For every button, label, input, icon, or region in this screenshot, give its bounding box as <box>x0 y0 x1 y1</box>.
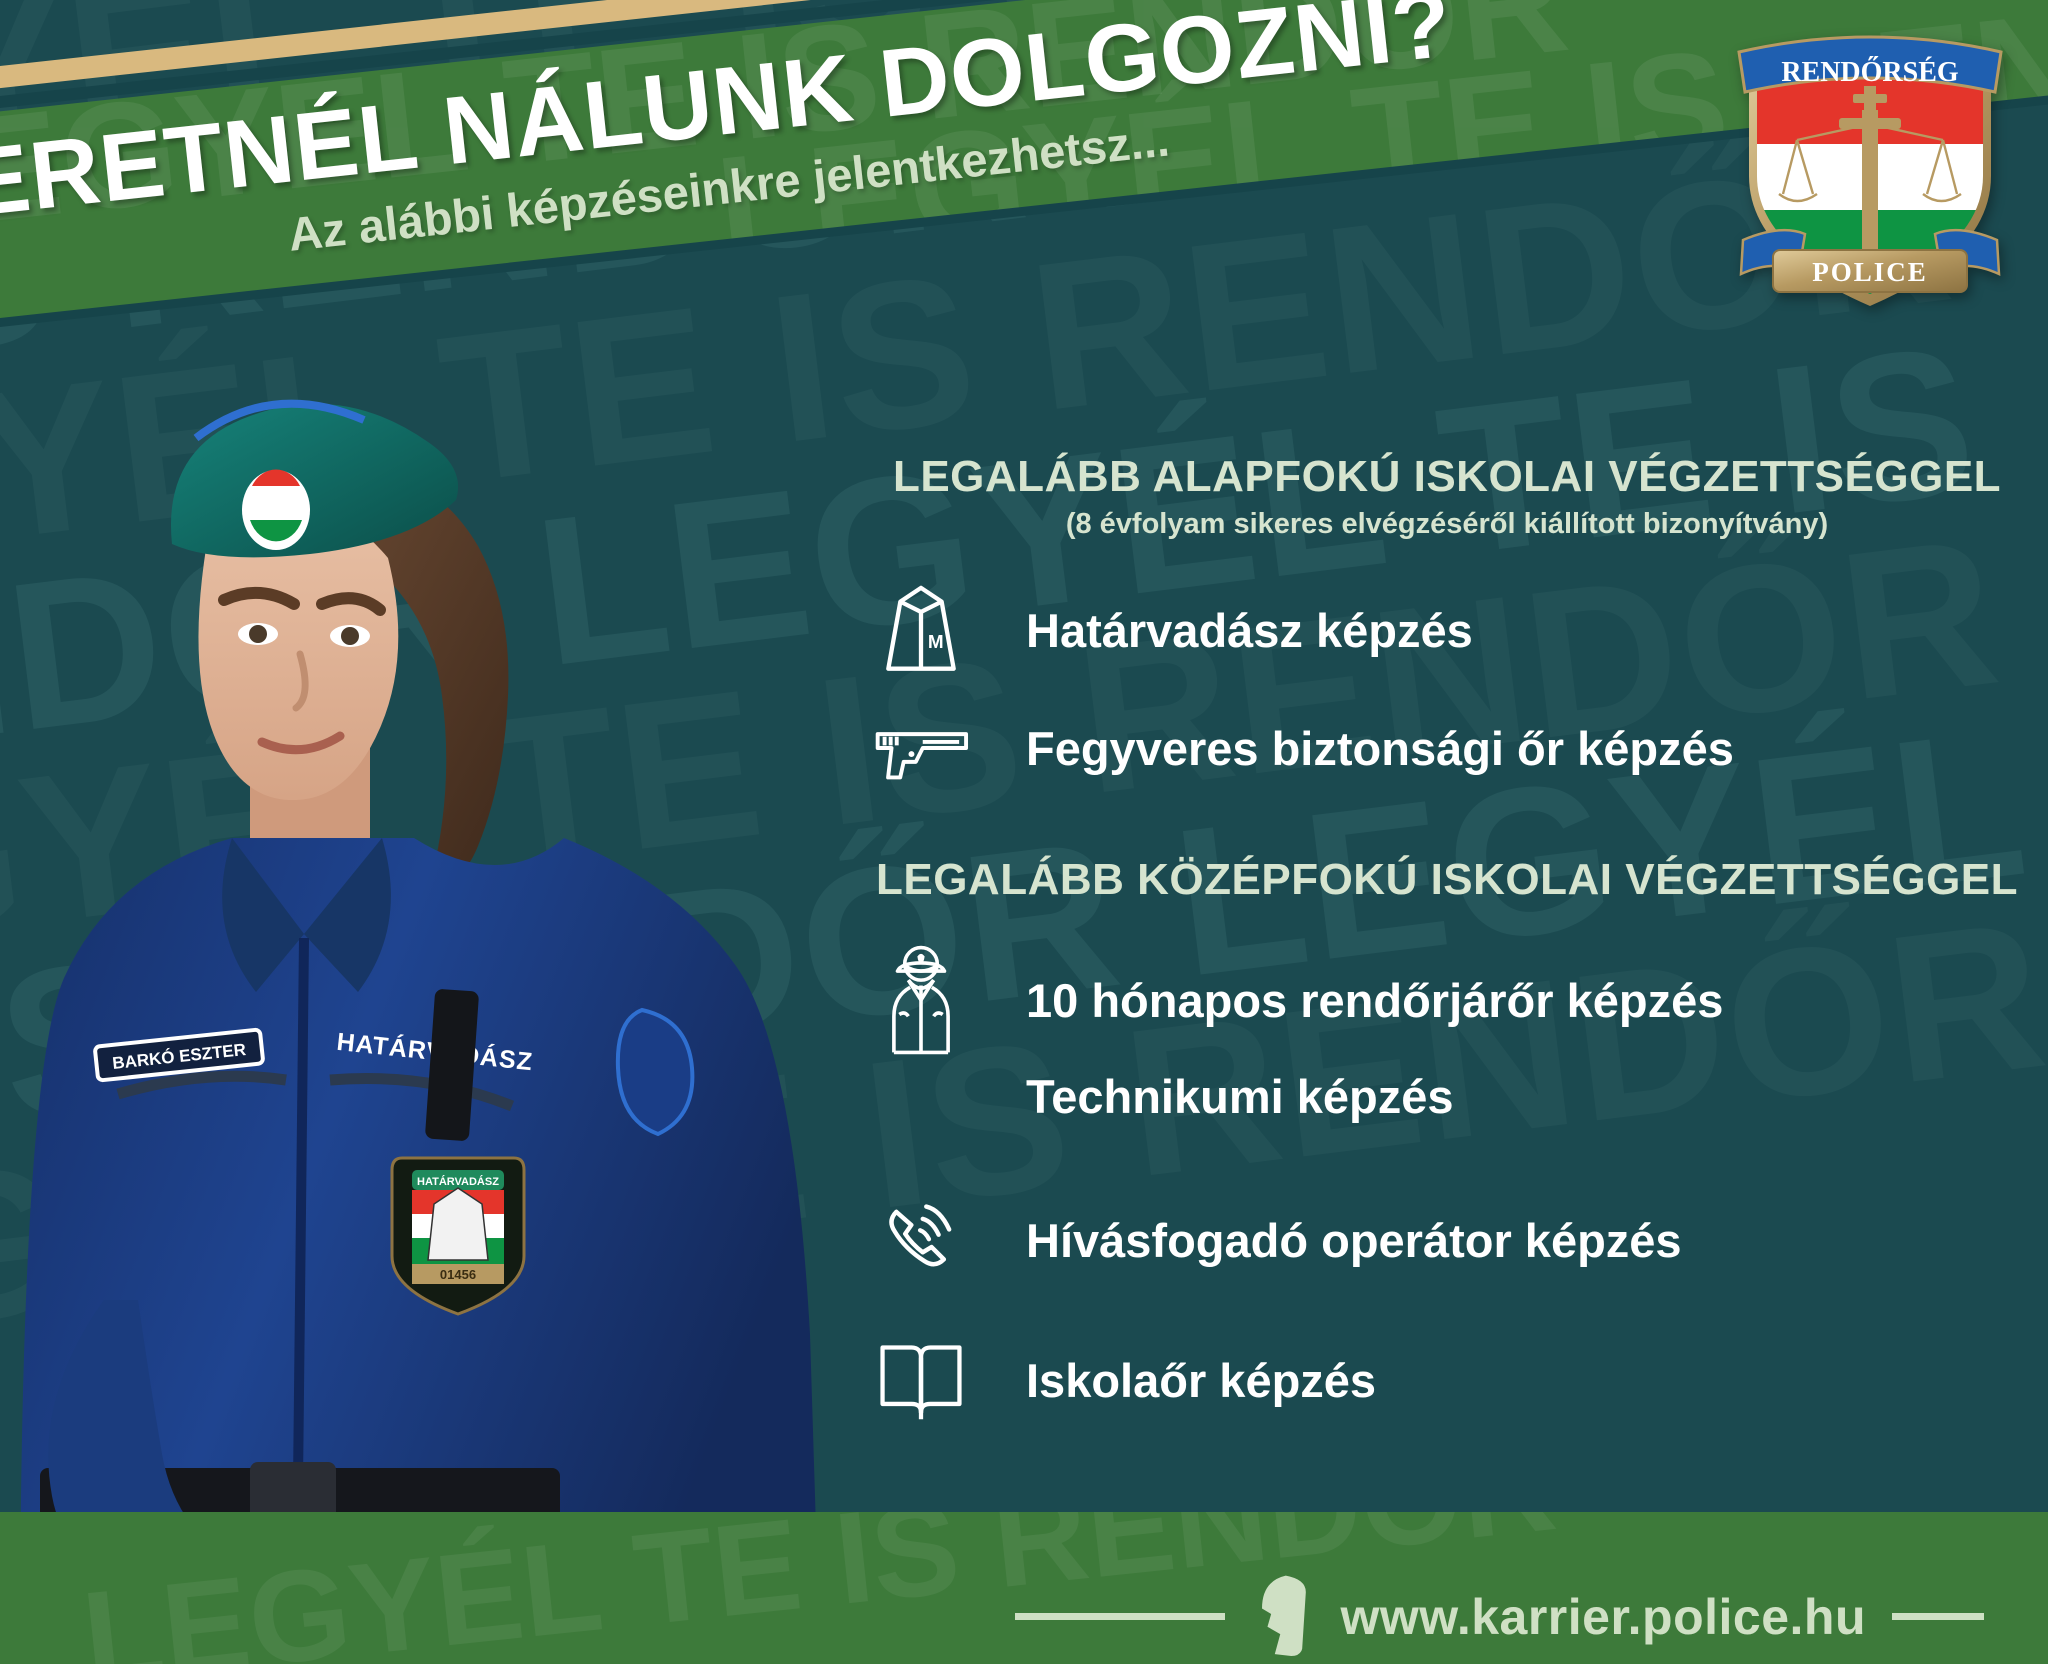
footer-rule-right <box>1892 1613 1984 1620</box>
list-item[interactable]: 10 hónapos rendőrjárőr képzés <box>862 945 2032 1055</box>
badge-number: 01456 <box>440 1267 476 1282</box>
nametag-text: BARKÓ ESZTER <box>111 1040 246 1073</box>
cap-piping <box>196 404 364 438</box>
police-officer-icon <box>862 945 980 1055</box>
neck <box>250 734 370 861</box>
pocket-zip-right <box>330 1078 512 1106</box>
border-guard-badge: HATÁRVADÁSZ 01456 <box>392 1158 524 1314</box>
website-url[interactable]: www.karrier.police.hu <box>1341 1588 1867 1646</box>
iris-right <box>341 627 359 645</box>
nametag: BARKÓ ESZTER <box>95 1029 264 1080</box>
radio-pouch <box>425 989 479 1142</box>
police-officer-silhouette-icon <box>1251 1572 1315 1661</box>
svg-text:M: M <box>928 632 944 653</box>
list-item-label: Fegyveres biztonsági őr képzés <box>1026 721 1734 776</box>
border-marker-obelisk-icon: M <box>862 575 980 685</box>
list-item[interactable]: Iskolaőr képzés <box>862 1325 2032 1435</box>
garrison-cap <box>171 404 458 558</box>
cap-cockade <box>242 470 310 550</box>
section-items: M Határvadász képzés Fegyvere <box>862 575 2032 803</box>
poster-root: RENDŐR LEGYÉL TE IS LEGYÉL TE IS RENDŐR … <box>0 0 2048 1664</box>
collar-right <box>304 838 391 992</box>
eyebrow-left <box>224 593 294 604</box>
eye-right <box>330 625 370 647</box>
open-book-icon <box>862 1325 980 1435</box>
police-badge-logo: RENDŐRSÉG POLICE <box>1735 18 2005 308</box>
section-items: 10 hónapos rendőrjárőr képzés Technikumi… <box>862 945 2032 1435</box>
list-item[interactable]: Technikumi képzés <box>862 1041 2032 1151</box>
list-item[interactable]: Hívásfogadó operátor képzés <box>862 1185 2032 1295</box>
footer-bar: LEGYÉL TE IS RENDŐR www.karrier.police.h… <box>0 1512 2048 1664</box>
badge-svg: RENDŐRSÉG POLICE <box>1735 18 2005 308</box>
footer-rule-left <box>1015 1613 1225 1620</box>
collar-left <box>222 838 304 992</box>
badge-top-banner-text: RENDŐRSÉG <box>1781 56 1959 88</box>
pistol-icon <box>862 693 980 803</box>
shoulder-text: HATÁRVADÁSZ <box>335 1027 534 1076</box>
section-title: LEGALÁBB ALAPFOKÚ ISKOLAI VÉGZETTSÉGGEL <box>862 452 2032 502</box>
section-subtitle: (8 évfolyam sikeres elvégzéséről kiállít… <box>862 508 2032 541</box>
list-item[interactable]: Fegyveres biztonsági őr képzés <box>862 693 2032 803</box>
iris-left <box>249 625 267 643</box>
list-item-label: Határvadász képzés <box>1026 603 1473 658</box>
list-item-label: Iskolaőr képzés <box>1026 1353 1376 1408</box>
pocket-zip-left <box>118 1076 286 1094</box>
mouth <box>262 736 340 750</box>
list-item-label: 10 hónapos rendőrjárőr képzés <box>1026 973 1723 1028</box>
eye-left <box>238 623 278 645</box>
section-basic-education: LEGALÁBB ALAPFOKÚ ISKOLAI VÉGZETTSÉGGEL … <box>862 452 2032 803</box>
face <box>198 501 398 800</box>
nose <box>296 654 305 708</box>
section-secondary-education: LEGALÁBB KÖZÉPFOKÚ ISKOLAI VÉGZETTSÉGGEL <box>862 855 2032 1435</box>
section-title: LEGALÁBB KÖZÉPFOKÚ ISKOLAI VÉGZETTSÉGGEL <box>862 855 2032 905</box>
shoulder-patch <box>618 1010 693 1134</box>
list-item-label: Technikumi képzés <box>1026 1069 1454 1124</box>
list-item-label: Hívásfogadó operátor képzés <box>1026 1213 1682 1268</box>
eyebrow-right <box>322 598 380 610</box>
training-list: LEGALÁBB ALAPFOKÚ ISKOLAI VÉGZETTSÉGGEL … <box>862 452 2032 1435</box>
badge-bottom-banner-text: POLICE <box>1812 257 1928 287</box>
badge-top-text: HATÁRVADÁSZ <box>417 1175 499 1188</box>
ringing-phone-icon <box>862 1185 980 1295</box>
officer-photo: BARKÓ ESZTER HATÁRVADÁSZ HATÁRVADÁSZ 014… <box>0 214 840 1664</box>
hair <box>300 469 508 880</box>
list-item[interactable]: M Határvadász képzés <box>862 575 2032 685</box>
